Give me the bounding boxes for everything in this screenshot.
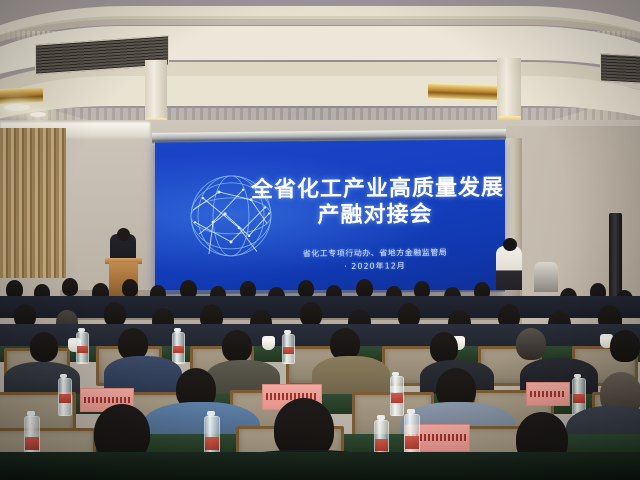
standing-attendee-head (503, 238, 517, 251)
ceiling-lamp-icon (30, 112, 46, 117)
air-vent-icon (600, 53, 640, 84)
water-bottle (58, 378, 72, 416)
water-bottle (76, 332, 89, 364)
bottle-cap (377, 415, 385, 420)
screen-subtitle: 省化工专项行动办、省地方金融监管局 · 2020年12月 (251, 246, 499, 274)
audience-head (122, 279, 138, 297)
screen-date: · 2020年12月 (251, 259, 499, 274)
audience-head (62, 278, 78, 296)
screen-title-line-2: 产融对接会 (251, 202, 499, 230)
bottle-cap (207, 411, 215, 416)
delegate-placard (526, 382, 570, 406)
conference-hall-photo: 全省化工产业高质量发展 产融对接会 省化工专项行动办、省地方金融监管局 · 20… (0, 0, 640, 480)
screen-title: 全省化工产业高质量发展 产融对接会 (251, 176, 499, 230)
led-presentation-screen: 全省化工产业高质量发展 产融对接会 省化工专项行动办、省地方金融监管局 · 20… (155, 139, 505, 294)
audience-head (222, 330, 252, 362)
bottle-cap (60, 374, 67, 378)
ceiling-lamp-icon (4, 104, 30, 111)
bottle-cap (392, 372, 399, 376)
cornice-pilaster (497, 58, 521, 120)
bottle-cap (574, 374, 581, 378)
gold-grille (0, 87, 44, 106)
left-wall-wood-panel (0, 128, 66, 278)
audience-head (30, 332, 58, 362)
tea-cup (262, 336, 275, 350)
audience-head (610, 330, 640, 362)
water-bottle (282, 334, 295, 364)
bottle-cap (407, 409, 415, 414)
gold-grille (427, 83, 501, 102)
foreground-floor (0, 452, 640, 480)
bottle-cap (284, 330, 291, 334)
bottle-cap (78, 328, 85, 332)
audience-area (0, 276, 640, 480)
bottle-cap (27, 411, 35, 416)
audience-head (516, 328, 546, 360)
screen-title-line-1: 全省化工产业高质量发展 (251, 176, 499, 204)
placard-text (530, 391, 566, 397)
bottle-cap (174, 328, 181, 332)
placard-text (84, 397, 130, 403)
water-bottle (172, 332, 185, 364)
audience-head (430, 332, 458, 363)
stage-speaker-head (117, 228, 130, 241)
water-bottle (390, 376, 404, 416)
